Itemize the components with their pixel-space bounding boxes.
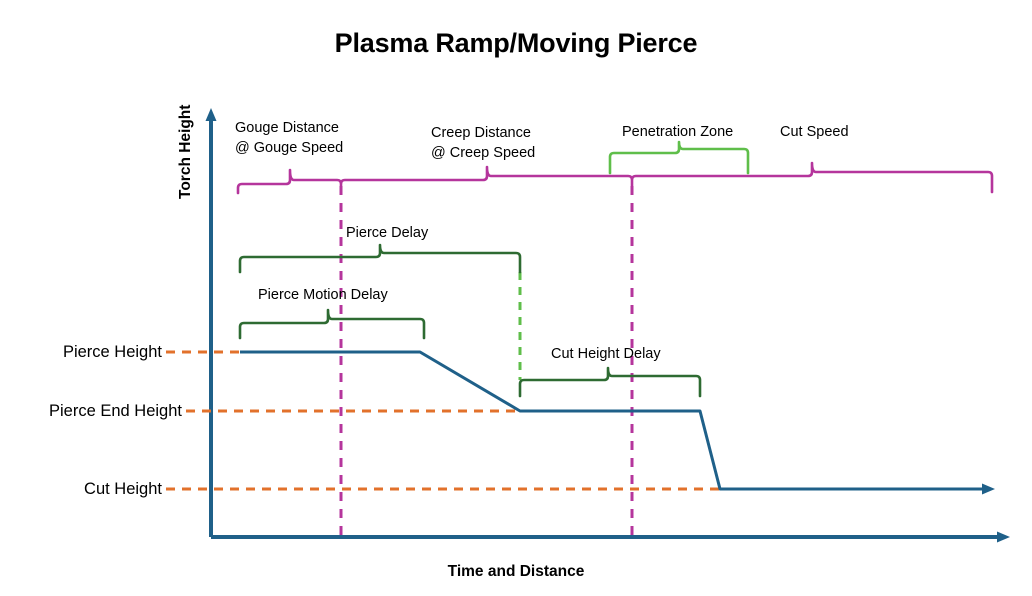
y-axis-title: Torch Height (176, 105, 196, 199)
torch-height-curve (240, 352, 995, 495)
cut-speed-label: Cut Speed (780, 123, 849, 142)
cut-height-label: Cut Height (0, 479, 162, 500)
plasma-ramp-diagram: Plasma Ramp/Moving Pierce Torch Height T… (0, 0, 1032, 596)
speed-brace (238, 163, 992, 193)
pierce-delay-brace (240, 245, 520, 272)
pierce-motion-delay-label: Pierce Motion Delay (258, 286, 388, 305)
creep-distance-label-line2: @ Creep Speed (431, 144, 535, 163)
pierce-end-height-label: Pierce End Height (0, 401, 182, 422)
cut-height-delay-label: Cut Height Delay (551, 345, 661, 364)
x-axis-title: Time and Distance (0, 562, 1032, 582)
cut-height-delay-brace (520, 368, 700, 396)
x-axis-arrowhead (997, 532, 1010, 543)
page-title: Plasma Ramp/Moving Pierce (0, 26, 1032, 61)
diagram-canvas (0, 0, 1032, 596)
penetration-zone-brace (610, 142, 748, 173)
torch-height-curve-arrowhead (982, 484, 995, 495)
gouge-distance-label-line2: @ Gouge Speed (235, 139, 343, 158)
cut-height-delay-brace-path (520, 368, 700, 396)
pierce-motion-delay-brace-path (240, 310, 424, 338)
pierce-motion-delay-brace (240, 310, 424, 338)
creep-distance-label-line1: Creep Distance (431, 124, 531, 143)
y-axis-arrowhead (206, 108, 217, 121)
pierce-delay-brace-path (240, 245, 520, 272)
pierce-height-label: Pierce Height (0, 342, 162, 363)
penetration-zone-brace-path (610, 142, 748, 173)
pierce-delay-label: Pierce Delay (346, 224, 428, 243)
torch-height-profile-line (240, 352, 985, 489)
penetration-zone-label: Penetration Zone (622, 123, 733, 142)
gouge-distance-label-line1: Gouge Distance (235, 119, 339, 138)
height-reference-lines (166, 352, 722, 489)
speed-brace-path (238, 163, 992, 193)
